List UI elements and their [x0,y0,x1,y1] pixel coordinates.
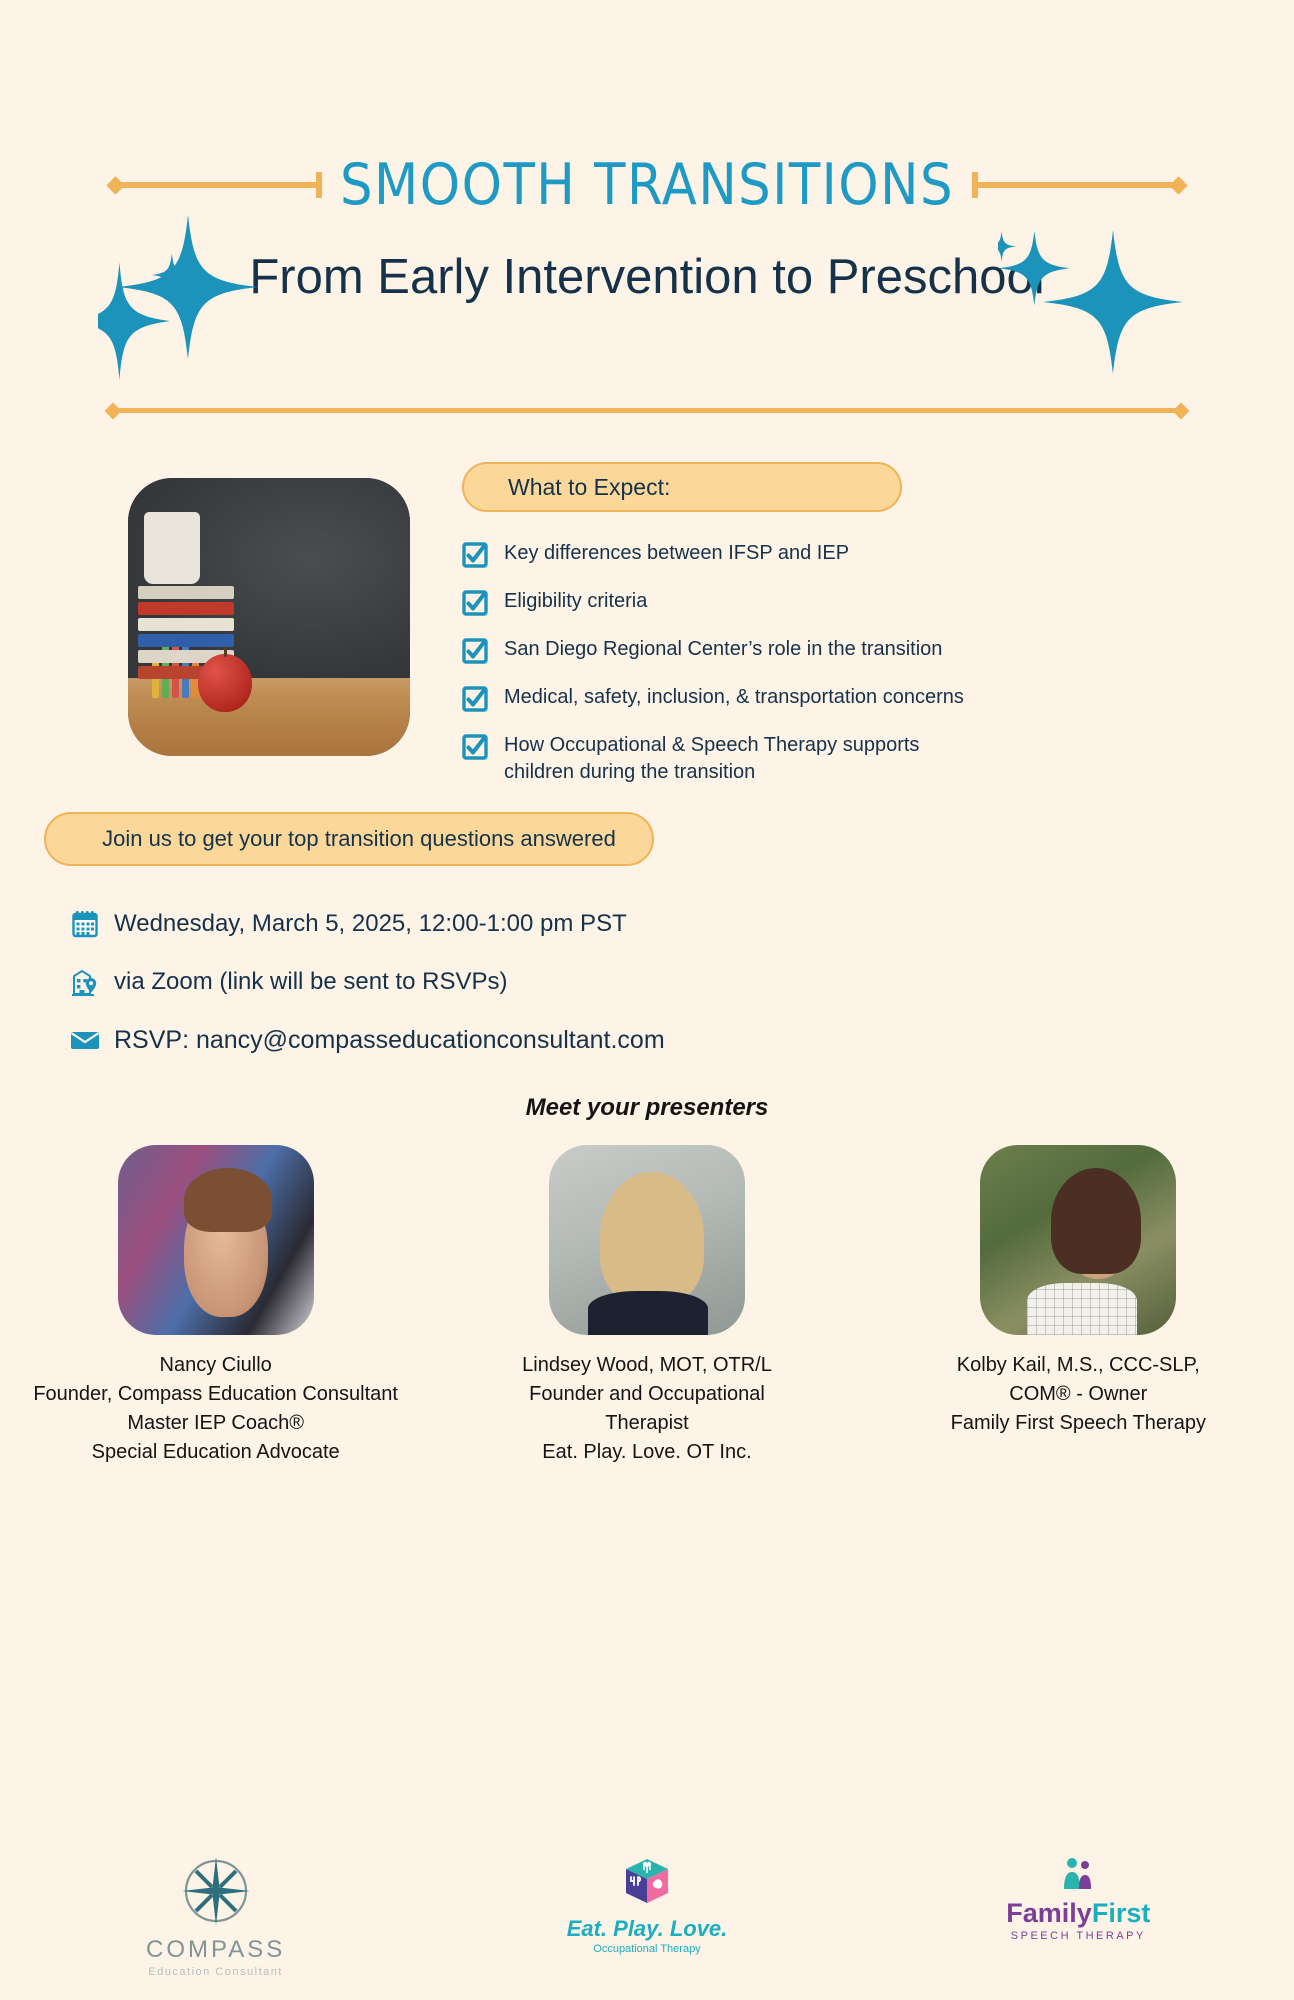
page-title: SMOOTH TRANSITIONS [340,152,954,218]
checklist-item-label: How Occupational & Speech Therapy suppor… [504,732,974,786]
classroom-photo [128,478,410,756]
logo-family-first: FamilyFirst SPEECH THERAPY [888,1855,1268,1942]
avatar-shirt [1027,1283,1137,1335]
detail-row-rsvp[interactable]: RSVP: nancy@compasseducationconsultant.c… [68,1024,868,1056]
logo-eat-play-love: Eat. Play. Love. Occupational Therapy [457,1855,837,1955]
expect-checklist: Key differences between IFSP and IEP Eli… [462,540,1262,806]
what-to-expect-label: What to Expect: [508,474,670,501]
avatar-hair [1051,1168,1141,1274]
checkbox-checked-icon [462,734,488,760]
eatplaylove-logo-name: Eat. Play. Love. [457,1916,837,1942]
presenter-avatar [980,1145,1176,1335]
presenter-caption: Lindsey Wood, MOT, OTR/L Founder and Occ… [452,1351,842,1467]
checkbox-checked-icon [462,686,488,712]
checklist-item-label: Eligibility criteria [504,588,647,615]
presenters-heading: Meet your presenters [0,1094,1294,1122]
book [138,586,234,599]
sparkle-cluster-right [998,215,1208,405]
envelope-icon [68,1024,102,1056]
pencil-cup [144,512,200,584]
eatplaylove-logo-tagline: Occupational Therapy [457,1943,837,1955]
logo-row: COMPASS Education Consultant Eat. Play. … [0,1855,1294,1978]
checklist-item-label: Medical, safety, inclusion, & transporta… [504,684,964,711]
checklist-item: Eligibility criteria [462,588,1262,616]
apple-icon [198,654,252,712]
join-banner: Join us to get your top transition quest… [44,812,654,866]
flyer-page: SMOOTH TRANSITIONS From Early Interventi… [0,0,1294,2000]
sparkle-cluster-left [98,215,298,405]
presenters-list: Nancy Ciullo Founder, Compass Education … [0,1145,1294,1467]
familyfirst-logo-tagline: SPEECH THERAPY [888,1930,1268,1942]
compass-logo-tagline: Education Consultant [26,1966,406,1978]
compass-rose-icon [180,1855,252,1927]
endcap-left-icon [316,172,322,198]
book [138,634,234,647]
event-date-text: Wednesday, March 5, 2025, 12:00-1:00 pm … [114,910,627,938]
family-people-icon [1055,1855,1101,1891]
compass-logo-name: COMPASS [26,1936,406,1964]
presenter-card: Kolby Kail, M.S., CCC-SLP, COM® - Owner … [883,1145,1273,1438]
rule-left [117,182,322,188]
presenter-caption: Nancy Ciullo Founder, Compass Education … [21,1351,411,1467]
avatar-hair [184,1168,272,1232]
diamond-left-icon [106,176,124,194]
presenter-card: Nancy Ciullo Founder, Compass Education … [21,1145,411,1467]
checkbox-checked-icon [462,542,488,568]
header: SMOOTH TRANSITIONS From Early Interventi… [0,0,1294,310]
location-building-icon [68,966,102,998]
book [138,618,234,631]
what-to-expect-pill: What to Expect: [462,462,902,512]
familyfirst-part2: First [1092,1898,1151,1928]
presenter-caption: Kolby Kail, M.S., CCC-SLP, COM® - Owner … [883,1351,1273,1438]
logo-compass: COMPASS Education Consultant [26,1855,406,1978]
avatar-shirt [588,1291,708,1335]
event-location-text: via Zoom (link will be sent to RSVPs) [114,968,507,996]
cube-icon [620,1855,674,1909]
checklist-item: How Occupational & Speech Therapy suppor… [462,732,1262,786]
checklist-item-label: San Diego Regional Center’s role in the … [504,636,942,663]
checklist-item: Medical, safety, inclusion, & transporta… [462,684,1262,712]
header-divider [113,408,1181,413]
endcap-right-icon [972,172,978,198]
familyfirst-logo-name: FamilyFirst [888,1898,1268,1929]
rsvp-email-text[interactable]: RSVP: nancy@compasseducationconsultant.c… [114,1026,665,1055]
apple-stem [224,647,227,657]
diamond-right-icon [1169,176,1187,194]
join-banner-label: Join us to get your top transition quest… [102,826,616,852]
checkbox-checked-icon [462,590,488,616]
title-row: SMOOTH TRANSITIONS [0,150,1294,220]
presenter-avatar [549,1145,745,1335]
checklist-item-label: Key differences between IFSP and IEP [504,540,849,567]
presenter-card: Lindsey Wood, MOT, OTR/L Founder and Occ… [452,1145,842,1467]
checklist-item: San Diego Regional Center’s role in the … [462,636,1262,664]
detail-row-date: Wednesday, March 5, 2025, 12:00-1:00 pm … [68,908,868,940]
familyfirst-part1: Family [1006,1898,1092,1928]
checkbox-checked-icon [462,638,488,664]
presenter-avatar [118,1145,314,1335]
book [138,602,234,615]
checklist-item: Key differences between IFSP and IEP [462,540,1262,568]
event-details: Wednesday, March 5, 2025, 12:00-1:00 pm … [68,908,868,1082]
rule-right [972,182,1177,188]
wooden-desk [128,678,410,756]
calendar-icon [68,908,102,940]
detail-row-location: via Zoom (link will be sent to RSVPs) [68,966,868,998]
avatar-hair [600,1172,704,1304]
